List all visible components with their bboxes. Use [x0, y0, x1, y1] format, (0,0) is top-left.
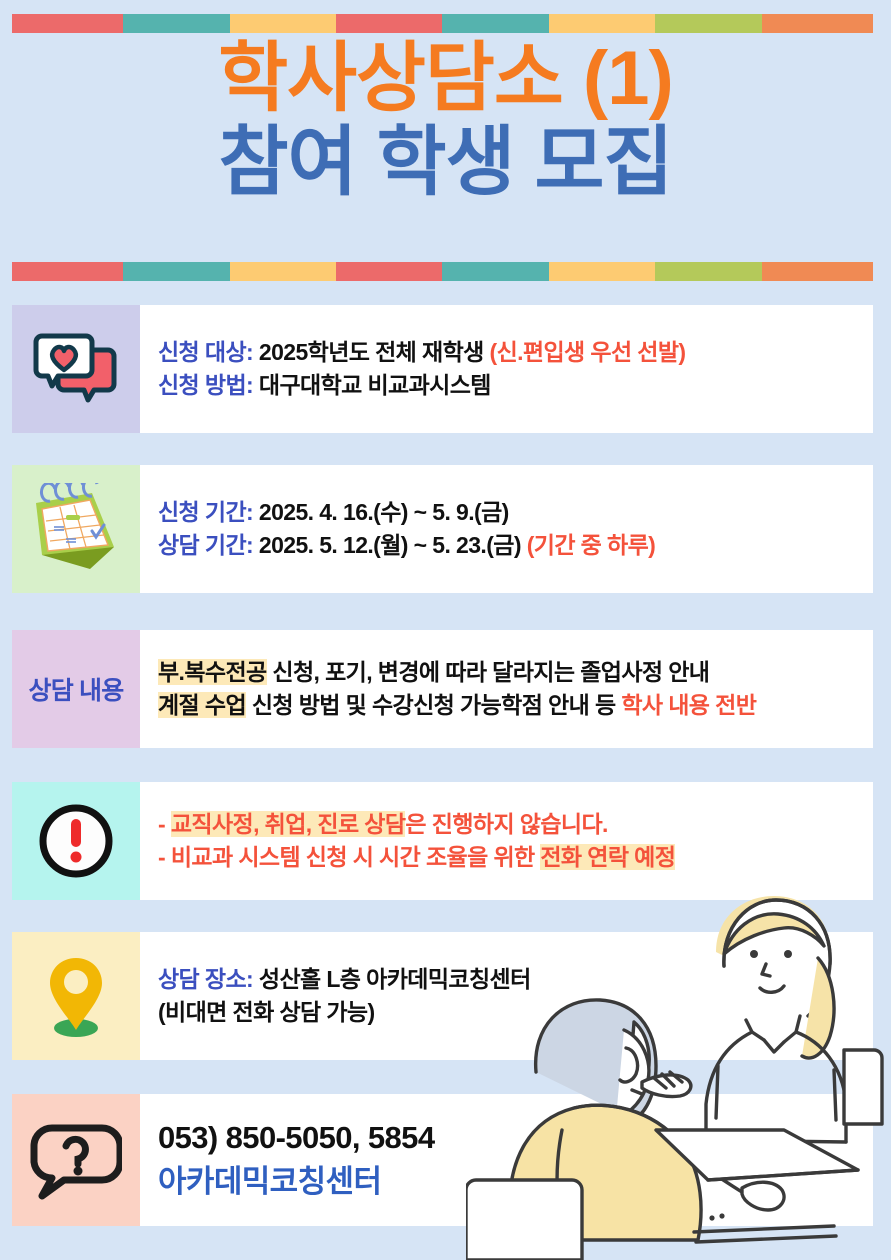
line-value: 신청 방법 및 수강신청 가능학점 안내 등 [246, 692, 621, 718]
line-note: 학사 내용 전반 [621, 692, 756, 718]
speech-bubbles-heart-icon [30, 330, 122, 408]
stripe-segment [762, 262, 873, 281]
row-icon-cell [12, 465, 140, 593]
line-highlight: 부.복수전공 [158, 659, 267, 685]
stripe-segment [762, 14, 873, 33]
center-name: 아카데믹코칭센터 [158, 1164, 381, 1199]
info-row-period: 신청 기간: 2025. 4. 16.(수) ~ 5. 9.(금) 상담 기간:… [12, 465, 873, 593]
line-dash: - [158, 811, 165, 837]
line-value: (비대면 전화 상담 가능) [158, 999, 375, 1025]
text-line: 상담 기간: 2025. 5. 12.(월) ~ 5. 23.(금) (기간 중… [158, 529, 873, 562]
decorative-stripe-top [12, 14, 873, 33]
location-pin-icon [41, 950, 111, 1042]
info-row-notice: - 교직사정, 취업, 진로 상담은 진행하지 않습니다. - 비교과 시스템 … [12, 782, 873, 900]
line-label: 신청 방법: [158, 372, 253, 398]
text-line: 아카데믹코칭센터 [158, 1160, 873, 1204]
info-row-place: 상담 장소: 성산홀 L층 아카데믹코칭센터 (비대면 전화 상담 가능) [12, 932, 873, 1060]
line-note: (기간 중 하루) [527, 532, 656, 558]
row-icon-cell [12, 1094, 140, 1226]
stripe-segment [655, 14, 761, 33]
line-value: 대구대학교 비교과시스템 [259, 372, 491, 398]
line-value: 신청, 포기, 변경에 따라 달라지는 졸업사정 안내 [267, 659, 710, 685]
row-body: 부.복수전공 신청, 포기, 변경에 따라 달라지는 졸업사정 안내 계절 수업… [140, 630, 873, 748]
title-line-1: 학사상담소 (1) [0, 40, 891, 118]
row-icon-cell: 상담 내용 [12, 630, 140, 748]
line-value: 비교과 시스템 신청 시 시간 조율을 위한 [171, 844, 541, 870]
text-line: 부.복수전공 신청, 포기, 변경에 따라 달라지는 졸업사정 안내 [158, 656, 873, 689]
poster-title: 학사상담소 (1) 참여 학생 모집 [0, 40, 891, 203]
info-row-content: 상담 내용 부.복수전공 신청, 포기, 변경에 따라 달라지는 졸업사정 안내… [12, 630, 873, 748]
row-icon-cell [12, 932, 140, 1060]
line-value: 2025. 5. 12.(월) ~ 5. 23.(금) [259, 532, 521, 558]
stripe-segment [230, 262, 336, 281]
line-label: 상담 장소: [158, 966, 253, 992]
text-line: (비대면 전화 상담 가능) [158, 996, 873, 1029]
title-line-2: 참여 학생 모집 [0, 124, 891, 202]
row-icon-cell [12, 305, 140, 433]
desk-calendar-icon [26, 483, 126, 575]
line-highlight: 교직사정, 취업, 진로 상담 [171, 811, 406, 837]
row-body: 신청 기간: 2025. 4. 16.(수) ~ 5. 9.(금) 상담 기간:… [140, 465, 873, 593]
text-line: 신청 기간: 2025. 4. 16.(수) ~ 5. 9.(금) [158, 496, 873, 529]
row-body: 상담 장소: 성산홀 L층 아카데믹코칭센터 (비대면 전화 상담 가능) [140, 932, 873, 1060]
row-body: 신청 대상: 2025학년도 전체 재학생 (신.편입생 우선 선발) 신청 방… [140, 305, 873, 433]
stripe-segment [12, 262, 123, 281]
text-line: - 교직사정, 취업, 진로 상담은 진행하지 않습니다. [158, 808, 873, 841]
line-value: 2025학년도 전체 재학생 [259, 339, 484, 365]
line-value: 은 진행하지 않습니다. [405, 811, 607, 837]
stripe-segment [442, 262, 548, 281]
info-row-contact: 053) 850-5050, 5854 아카데믹코칭센터 [12, 1094, 873, 1226]
stripe-segment [230, 14, 336, 33]
text-line: 상담 장소: 성산홀 L층 아카데믹코칭센터 [158, 963, 873, 996]
text-line: 계절 수업 신청 방법 및 수강신청 가능학점 안내 등 학사 내용 전반 [158, 689, 873, 722]
line-note: (신.편입생 우선 선발) [490, 339, 686, 365]
line-label: 신청 기간: [158, 499, 253, 525]
row-body: - 교직사정, 취업, 진로 상담은 진행하지 않습니다. - 비교과 시스템 … [140, 782, 873, 900]
text-line: 신청 방법: 대구대학교 비교과시스템 [158, 369, 873, 402]
line-value: 성산홀 L층 아카데믹코칭센터 [259, 966, 531, 992]
text-line: - 비교과 시스템 신청 시 시간 조율을 위한 전화 연락 예정 [158, 841, 873, 874]
consultation-content-label: 상담 내용 [29, 671, 124, 707]
line-highlight: 계절 수업 [158, 692, 246, 718]
stripe-segment [12, 14, 123, 33]
text-line: 신청 대상: 2025학년도 전체 재학생 (신.편입생 우선 선발) [158, 336, 873, 369]
row-icon-cell [12, 782, 140, 900]
question-speech-bubble-icon [30, 1118, 122, 1202]
text-line: 053) 850-5050, 5854 [158, 1116, 873, 1160]
info-row-application: 신청 대상: 2025학년도 전체 재학생 (신.편입생 우선 선발) 신청 방… [12, 305, 873, 433]
exclamation-circle-icon [34, 799, 118, 883]
line-value: 2025. 4. 16.(수) ~ 5. 9.(금) [259, 499, 509, 525]
stripe-segment [442, 14, 548, 33]
line-label: 상담 기간: [158, 532, 253, 558]
stripe-segment [655, 262, 761, 281]
decorative-stripe-bottom [12, 262, 873, 281]
stripe-segment [123, 14, 229, 33]
stripe-segment [123, 262, 229, 281]
stripe-segment [336, 262, 442, 281]
line-highlight: 전화 연락 예정 [540, 844, 675, 870]
stripe-segment [549, 262, 655, 281]
line-dash: - [158, 844, 165, 870]
row-body: 053) 850-5050, 5854 아카데믹코칭센터 [140, 1094, 873, 1226]
stripe-segment [336, 14, 442, 33]
line-label: 신청 대상: [158, 339, 253, 365]
stripe-segment [549, 14, 655, 33]
phone-number: 053) 850-5050, 5854 [158, 1120, 434, 1155]
